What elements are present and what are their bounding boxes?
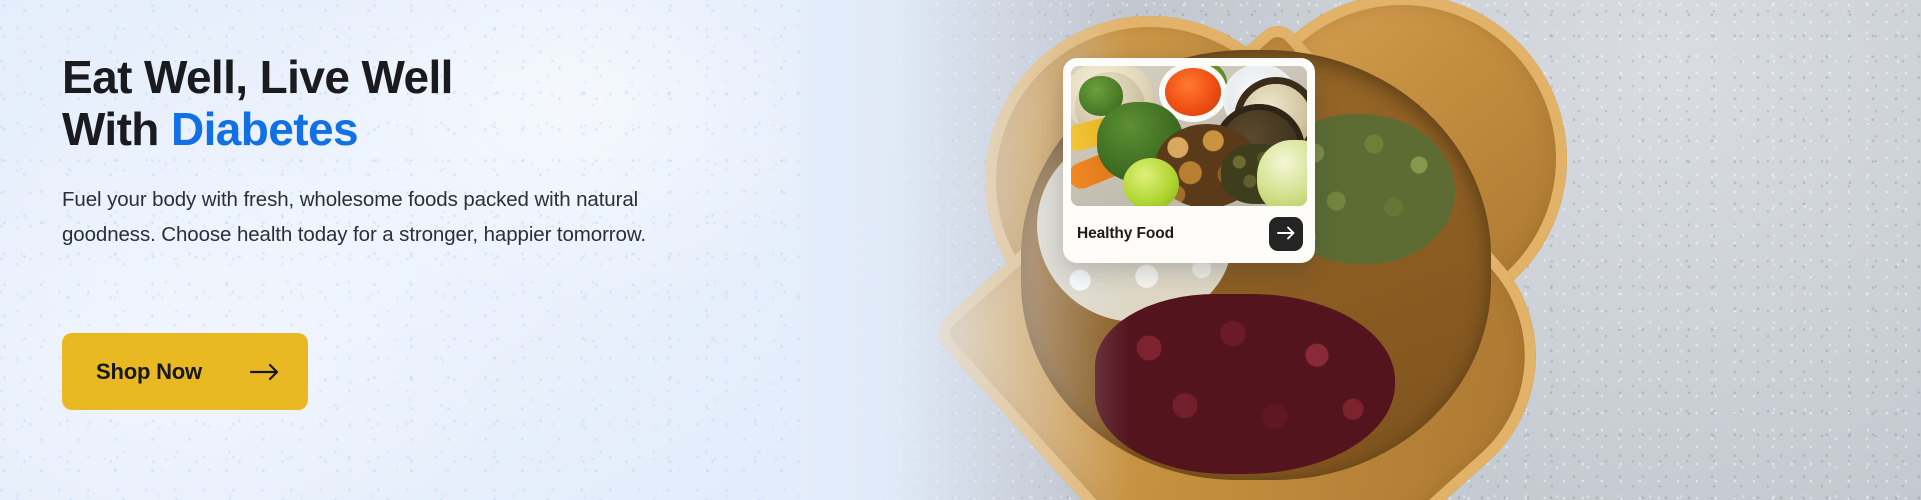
hero-subcopy: Fuel your body with fresh, wholesome foo… — [62, 182, 702, 253]
headline-line-1: Eat Well, Live Well — [62, 51, 453, 103]
shop-now-label: Shop Now — [96, 359, 202, 385]
card-footer: Healthy Food — [1071, 206, 1307, 263]
healthy-food-thumbnail — [1071, 66, 1307, 206]
arrow-right-icon — [250, 363, 280, 381]
thumb-green-apple — [1123, 158, 1179, 206]
hero-banner: Eat Well, Live Well With Diabetes Fuel y… — [0, 0, 1921, 500]
shop-now-button[interactable]: Shop Now — [62, 333, 308, 410]
healthy-food-card[interactable]: Healthy Food — [1063, 58, 1315, 263]
card-arrow-button[interactable] — [1269, 217, 1303, 251]
headline-line-2-prefix: With — [62, 103, 171, 155]
headline-accent-word: Diabetes — [171, 103, 358, 155]
arrow-right-icon — [1277, 226, 1295, 243]
hero-copy: Eat Well, Live Well With Diabetes Fuel y… — [62, 52, 822, 252]
hero-photo — [800, 0, 1921, 500]
card-title: Healthy Food — [1077, 225, 1174, 243]
red-kidney-beans — [1095, 294, 1395, 474]
page-title: Eat Well, Live Well With Diabetes — [62, 52, 822, 156]
thumb-chili-powder — [1165, 68, 1221, 116]
